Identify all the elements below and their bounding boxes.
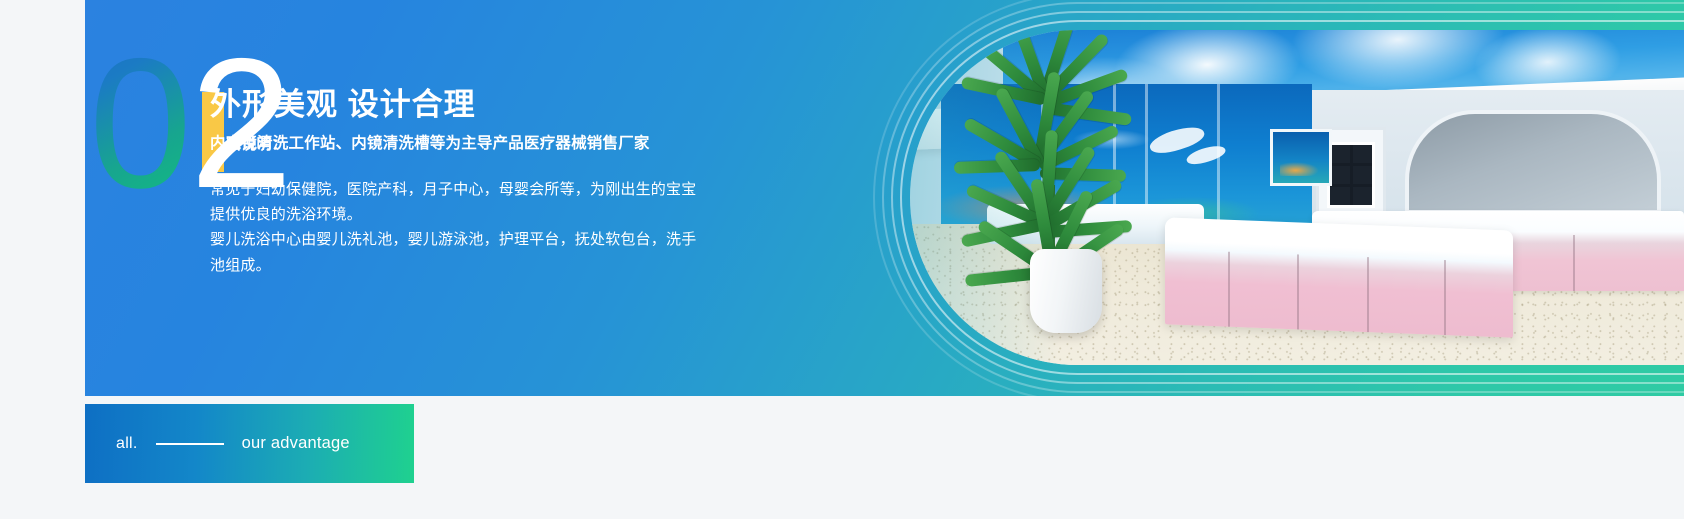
potted-palm-plant xyxy=(933,70,1188,338)
door-glass-panes xyxy=(1327,142,1375,208)
front-bath-counter xyxy=(1165,218,1513,339)
framed-aquarium-poster xyxy=(1270,129,1332,186)
section-number: 02 xyxy=(85,44,291,204)
description-line: 婴儿洗浴中心由婴儿洗礼池，婴儿游泳池，护理平台，抚处软包台，洗手池组成。 xyxy=(210,227,702,277)
counter-seam xyxy=(1444,260,1446,335)
our-advantage-bar[interactable]: all. our advantage xyxy=(85,404,414,483)
banner-subtitle: 内窥镜清洗工作站、内镜清洗槽等为主导产品医疗器械销售厂家 xyxy=(210,131,842,153)
product-photo xyxy=(910,30,1684,365)
section-number-digit-0: 0 xyxy=(85,32,190,217)
product-photo-frame xyxy=(900,20,1684,375)
advantage-divider-line xyxy=(156,443,224,445)
banner-text-block: 外形美观 设计合理 内窥镜清洗工作站、内镜清洗槽等为主导产品医疗器械销售厂家 产… xyxy=(202,0,842,278)
counter-seam xyxy=(1228,252,1230,327)
advantage-label: our advantage xyxy=(242,434,350,453)
room-illustration xyxy=(910,30,1684,365)
section-number-digit-2: 2 xyxy=(190,32,291,217)
feature-banner: 02 外形美观 设计合理 内窥镜清洗工作站、内镜清洗槽等为主导产品医疗器械销售厂… xyxy=(85,0,1684,396)
advantage-prefix: all. xyxy=(116,435,138,453)
title-row: 外形美观 设计合理 内窥镜清洗工作站、内镜清洗槽等为主导产品医疗器械销售厂家 xyxy=(202,0,842,92)
plant-pot xyxy=(1030,249,1102,333)
counter-seam xyxy=(1298,255,1300,330)
counter-seam xyxy=(1573,235,1575,291)
banner-title: 外形美观 设计合理 xyxy=(210,86,842,123)
arch-window xyxy=(1405,110,1660,214)
page-root: 02 外形美观 设计合理 内窥镜清洗工作站、内镜清洗槽等为主导产品医疗器械销售厂… xyxy=(0,0,1684,519)
counter-seam xyxy=(1367,258,1369,333)
